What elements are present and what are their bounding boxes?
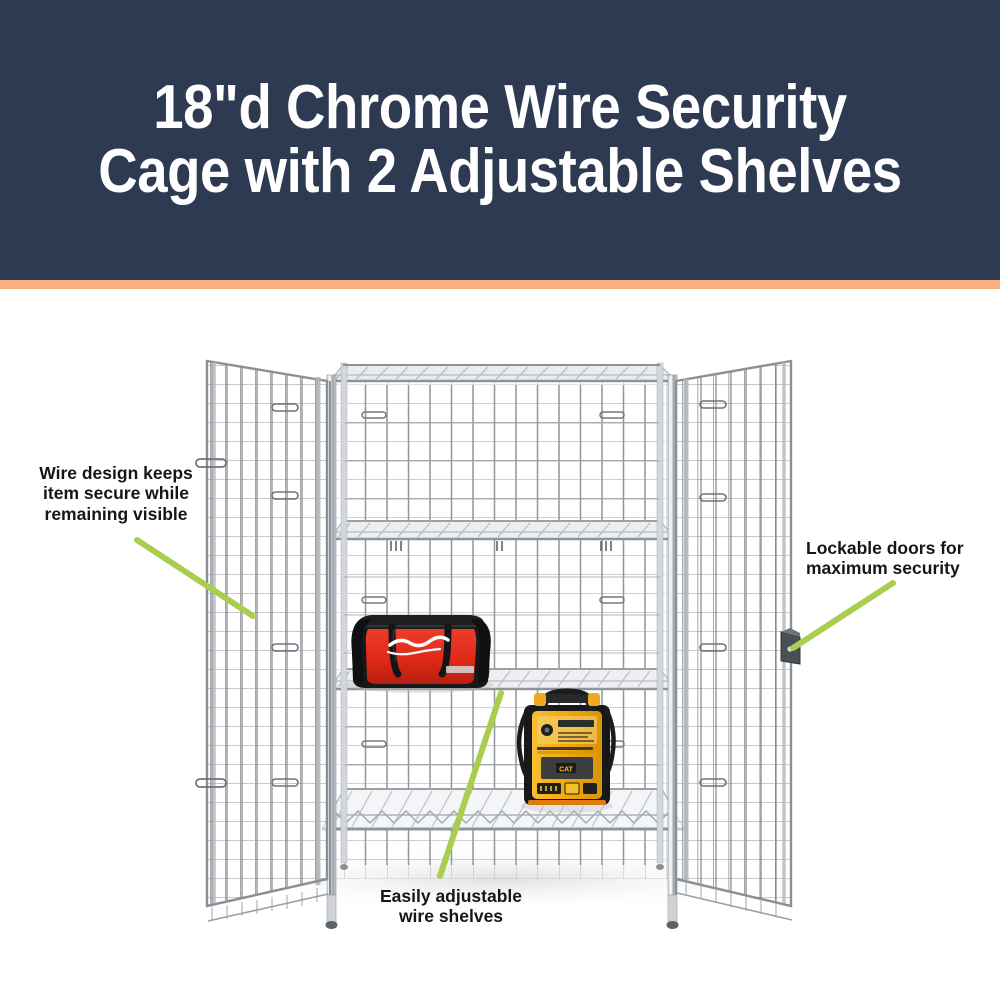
header-band: 18"d Chrome Wire Security Cage with 2 Ad… [0,0,1000,280]
page-title: 18"d Chrome Wire Security Cage with 2 Ad… [69,76,931,204]
cat-jump-starter: CAT [519,693,613,813]
top-shelf [330,365,676,381]
lock-hasp-bracket[interactable] [781,628,800,664]
bottom-shelf [322,789,684,829]
callout-adjustable-shelves: Easily adjustable wire shelves [356,886,546,927]
callout-lockable-doors: Lockable doors for maximum security [806,538,994,579]
right-door[interactable] [670,349,800,920]
accent-stripe [0,280,1000,289]
milwaukee-tool-bag [346,615,494,693]
corner-post-back-left [340,363,348,870]
left-door[interactable] [196,349,335,921]
corner-post-back-right [656,363,664,870]
infographic-page: 18"d Chrome Wire Security Cage with 2 Ad… [0,0,1000,1000]
cat-brand-label: CAT [559,767,574,774]
callout-wire-design: Wire design keeps item secure while rema… [26,463,206,524]
